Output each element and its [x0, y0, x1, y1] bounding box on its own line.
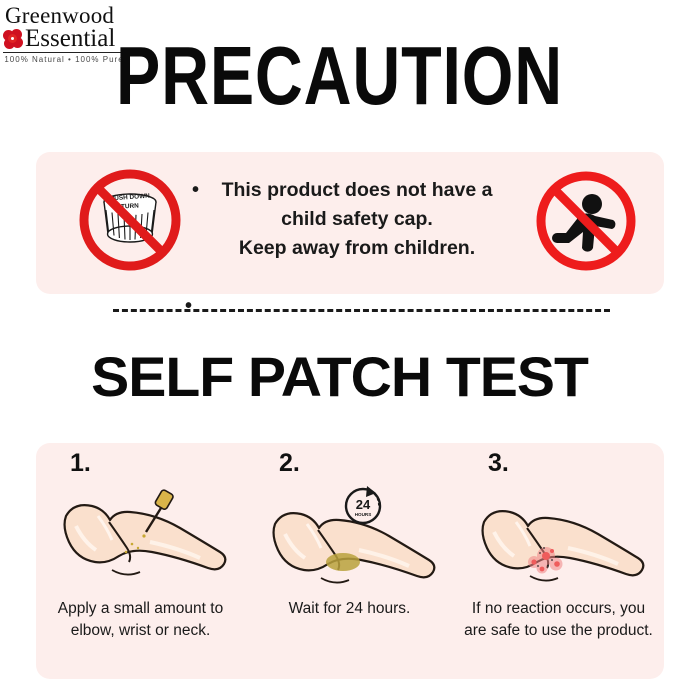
precaution-bullet-1-line-2: child safety cap.	[192, 205, 522, 234]
precaution-bullet-2-text: Keep away from children.	[239, 237, 475, 259]
elbow-reaction-illustration	[472, 478, 647, 590]
patch-test-step-1: 1. Apply a small amount to elbow, wrist …	[36, 443, 245, 679]
page-title-self-patch-test: SELF PATCH TEST	[0, 348, 679, 406]
no-children-icon	[533, 168, 639, 274]
step-caption: If no reaction occurs, you are safe to u…	[462, 598, 655, 642]
bullet-icon: •	[185, 292, 192, 321]
step-number: 1.	[70, 449, 91, 478]
step-number: 2.	[279, 449, 300, 478]
svg-text:HOURS: HOURS	[355, 512, 372, 517]
step-caption: Wait for 24 hours.	[253, 598, 446, 620]
step-number: 3.	[488, 449, 509, 478]
svg-text:24: 24	[356, 497, 371, 512]
precaution-bullet-2: • Keep away from children.	[192, 234, 522, 263]
brand-name-line1: Greenwood	[3, 4, 127, 27]
precaution-text-block: • This product does not have a child saf…	[192, 176, 522, 263]
bullet-icon: •	[192, 176, 199, 205]
step-caption: Apply a small amount to elbow, wrist or …	[44, 598, 237, 642]
patch-test-step-3: 3. If no reaction occurs,	[454, 443, 663, 679]
precaution-bullet-1: • This product does not have a	[192, 176, 522, 205]
precaution-bullet-1-line-1: This product does not have a	[222, 179, 493, 201]
no-child-safety-cap-icon: PUSH DOWN TURN	[76, 166, 184, 274]
page-title-precaution: PRECAUTION	[68, 33, 611, 119]
section-divider	[113, 309, 610, 312]
flower-icon	[3, 29, 23, 49]
elbow-wait-illustration: 24 HOURS	[263, 478, 438, 590]
patch-test-step-2: 2. 24 HOURS Wait for 24 hours.	[245, 443, 454, 679]
elbow-dropper-illustration	[54, 478, 229, 590]
